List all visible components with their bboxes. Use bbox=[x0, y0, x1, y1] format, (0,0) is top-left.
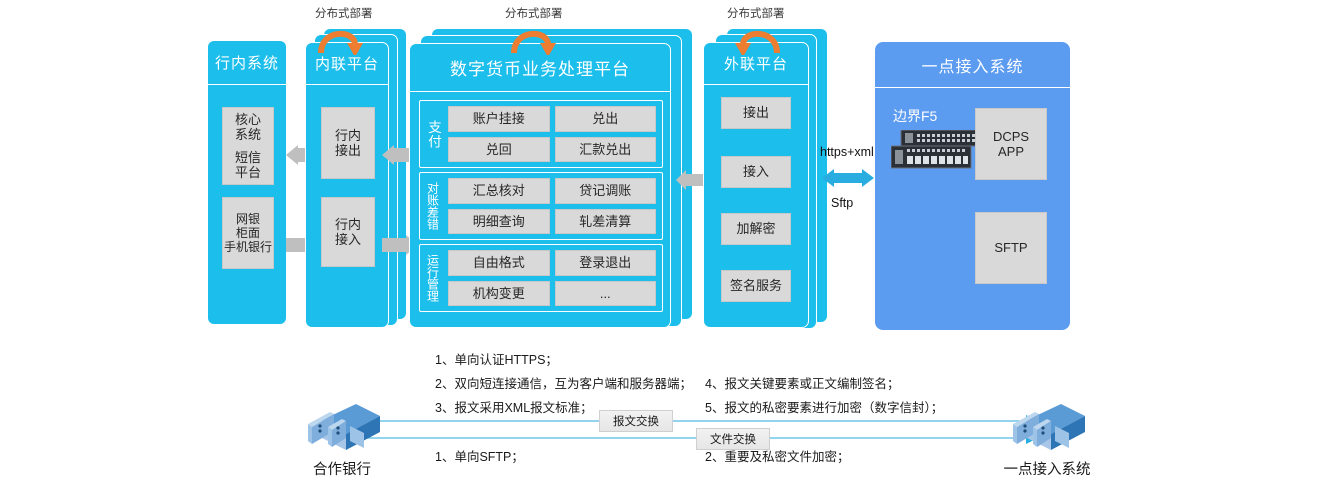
panel-single-access-system: 一点接入系统 边界F5 bbox=[875, 42, 1070, 330]
group-operations-grid: 自由格式 登录退出 机构变更 ... bbox=[446, 245, 662, 311]
external-card: 外联平台 接出 接入 加解密 签名服务 bbox=[703, 42, 809, 328]
group-operations-label: 运行管理 bbox=[420, 245, 446, 311]
panel-intranet-platform: 内联平台 行内 接出 行内 接入 bbox=[305, 28, 410, 328]
line-message-exchange bbox=[340, 412, 1040, 430]
box-exchange-back[interactable]: 兑回 bbox=[448, 137, 550, 163]
panel-external-platform: 外联平台 接出 接入 加解密 签名服务 bbox=[703, 28, 828, 328]
ebank-line1: 网银 bbox=[236, 212, 260, 226]
core-line5: 平台 bbox=[235, 165, 261, 180]
dcep-body: 支付 账户挂接 兑出 兑回 汇款兑出 对账差错 汇总核对 贷记调账 明细查询 轧… bbox=[410, 92, 670, 327]
box-intranet-out[interactable]: 行内 接出 bbox=[321, 107, 375, 179]
intranet-out-line2: 接出 bbox=[335, 143, 361, 158]
ebank-line2: 柜面 bbox=[236, 226, 260, 240]
box-intranet-in[interactable]: 行内 接入 bbox=[321, 197, 375, 267]
box-netting-settle[interactable]: 轧差清算 bbox=[555, 209, 657, 235]
note-msg-left-2: 2、双向短连接通信，互为客户端和服务器端； bbox=[435, 374, 692, 394]
note-file-left-1: 1、单向SFTP； bbox=[435, 447, 524, 467]
ebank-line3: 手机银行 bbox=[224, 240, 272, 254]
intranet-card: 内联平台 行内 接出 行内 接入 bbox=[305, 42, 389, 328]
box-summary-check[interactable]: 汇总核对 bbox=[448, 178, 550, 204]
box-credit-adjust[interactable]: 贷记调账 bbox=[555, 178, 657, 204]
panel-bank-internal: 行内系统 核心 系统 短信 平台 网银 柜面 手机银行 bbox=[207, 40, 287, 325]
group-reconciliation-grid: 汇总核对 贷记调账 明细查询 轧差清算 bbox=[446, 173, 662, 239]
protocol-bottom-label: Sftp bbox=[831, 196, 853, 210]
note-msg-right-4: 4、报文关键要素或正文编制签名； bbox=[705, 374, 899, 394]
line-file-exchange bbox=[340, 429, 1040, 447]
box-login-logout[interactable]: 登录退出 bbox=[555, 250, 657, 276]
note-file-right-2: 2、重要及私密文件加密； bbox=[705, 447, 849, 467]
box-account-link[interactable]: 账户挂接 bbox=[448, 106, 550, 132]
dcep-card: 数字货币业务处理平台 支付 账户挂接 兑出 兑回 汇款兑出 对账差错 汇总核对 bbox=[409, 43, 671, 328]
loop-arrow-external-icon bbox=[735, 19, 783, 55]
panel-dcep-platform: 数字货币业务处理平台 支付 账户挂接 兑出 兑回 汇款兑出 对账差错 汇总核对 bbox=[409, 28, 699, 328]
box-remittance-out[interactable]: 汇款兑出 bbox=[555, 137, 657, 163]
single-access-server-label: 一点接入系统 bbox=[994, 458, 1100, 479]
core-line2: 系统 bbox=[235, 127, 261, 142]
box-external-out[interactable]: 接出 bbox=[721, 97, 791, 129]
single-access-title: 一点接入系统 bbox=[875, 42, 1070, 88]
protocol-top-label: https+xml bbox=[820, 145, 874, 159]
box-sftp[interactable]: SFTP bbox=[975, 212, 1047, 284]
group-reconciliation: 对账差错 汇总核对 贷记调账 明细查询 轧差清算 bbox=[419, 172, 663, 240]
network-switch-icon bbox=[891, 130, 983, 172]
box-external-in[interactable]: 接入 bbox=[721, 156, 791, 188]
box-core-sms[interactable]: 核心 系统 短信 平台 bbox=[222, 107, 274, 185]
group-reconciliation-label: 对账差错 bbox=[420, 173, 446, 239]
intranet-out-line1: 行内 bbox=[335, 128, 361, 143]
intranet-in-line1: 行内 bbox=[335, 217, 361, 232]
partner-bank-label: 合作银行 bbox=[300, 458, 384, 479]
box-org-change[interactable]: 机构变更 bbox=[448, 281, 550, 307]
intranet-body: 行内 接出 行内 接入 bbox=[306, 85, 388, 327]
box-detail-query[interactable]: 明细查询 bbox=[448, 209, 550, 235]
box-more[interactable]: ... bbox=[555, 281, 657, 307]
group-payment-grid: 账户挂接 兑出 兑回 汇款兑出 bbox=[446, 101, 662, 167]
box-ebank-counter-mobile[interactable]: 网银 柜面 手机银行 bbox=[222, 197, 274, 269]
bank-internal-title: 行内系统 bbox=[208, 41, 286, 85]
note-msg-left-1: 1、单向认证HTTPS； bbox=[435, 350, 558, 370]
box-signature-service[interactable]: 签名服务 bbox=[721, 270, 791, 302]
dcps-line2: APP bbox=[998, 144, 1024, 159]
core-line1: 核心 bbox=[235, 112, 261, 127]
f5-label: 边界F5 bbox=[893, 106, 937, 126]
bank-internal-body: 核心 系统 短信 平台 网银 柜面 手机银行 bbox=[208, 85, 286, 324]
box-free-format[interactable]: 自由格式 bbox=[448, 250, 550, 276]
group-payment: 支付 账户挂接 兑出 兑回 汇款兑出 bbox=[419, 100, 663, 168]
partner-bank-server-icon bbox=[300, 400, 382, 454]
box-encrypt-decrypt[interactable]: 加解密 bbox=[721, 213, 791, 245]
loop-arrow-dcep-icon bbox=[508, 19, 556, 55]
single-access-server-icon bbox=[1005, 400, 1087, 454]
arrow-protocol-bidirectional bbox=[822, 168, 874, 188]
architecture-diagram: 行内系统 核心 系统 短信 平台 网银 柜面 手机银行 bbox=[0, 0, 1333, 483]
single-access-body: 边界F5 bbox=[875, 88, 1070, 330]
loop-arrow-intranet-icon bbox=[315, 19, 363, 55]
core-line4: 短信 bbox=[235, 150, 261, 165]
bank-internal-card: 行内系统 核心 系统 短信 平台 网银 柜面 手机银行 bbox=[207, 40, 287, 325]
box-exchange-out[interactable]: 兑出 bbox=[555, 106, 657, 132]
group-payment-label: 支付 bbox=[420, 101, 446, 167]
external-body: 接出 接入 加解密 签名服务 bbox=[704, 85, 808, 327]
box-dcps-app[interactable]: DCPS APP bbox=[975, 108, 1047, 180]
group-operations: 运行管理 自由格式 登录退出 机构变更 ... bbox=[419, 244, 663, 312]
intranet-in-line2: 接入 bbox=[335, 232, 361, 247]
dcps-line1: DCPS bbox=[993, 129, 1029, 144]
